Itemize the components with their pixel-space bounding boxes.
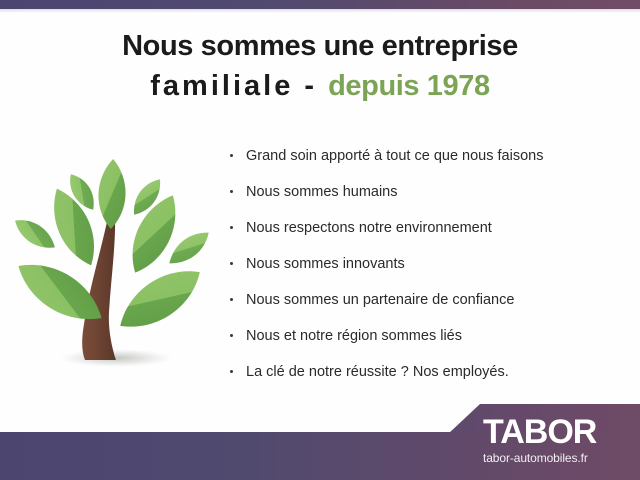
slide-title-line-2-static: familiale - xyxy=(150,70,328,102)
list-item-label: Nous respectons notre environnement xyxy=(246,220,492,236)
list-item: Nous sommes un partenaire de confiance xyxy=(228,290,628,326)
list-item: Nous sommes humains xyxy=(228,182,628,218)
tree-leaf-9 xyxy=(110,257,211,342)
list-item: La clé de notre réussite ? Nos employés. xyxy=(228,362,628,398)
top-accent-bar xyxy=(0,0,640,9)
top-accent-bar-shadow xyxy=(0,9,640,13)
list-item: Nous respectons notre environnement xyxy=(228,218,628,254)
slide-title: Nous sommes une entreprise familiale - d… xyxy=(0,26,640,106)
tree-leaf-6 xyxy=(12,213,60,255)
tree-illustration xyxy=(12,152,212,380)
brand-logo-tagline: tabor-automobiles.fr xyxy=(483,451,633,465)
list-item-label: Nous sommes un partenaire de confiance xyxy=(246,292,514,308)
bullet-dot-icon xyxy=(230,334,233,337)
benefits-list: Grand soin apporté à tout ce que nous fa… xyxy=(228,146,628,398)
slide-title-line-1: Nous sommes une entreprise xyxy=(122,30,518,62)
bullet-dot-icon xyxy=(230,262,233,265)
list-item-label: Nous sommes innovants xyxy=(246,256,405,272)
tree-leaf-4 xyxy=(43,182,106,272)
slide-title-line-2: familiale - depuis 1978 xyxy=(0,66,640,106)
bullet-dot-icon xyxy=(230,190,233,193)
list-item-label: La clé de notre réussite ? Nos employés. xyxy=(246,364,509,380)
bullet-dot-icon xyxy=(230,154,233,157)
bullet-dot-icon xyxy=(230,226,233,229)
list-item: Nous sommes innovants xyxy=(228,254,628,290)
brand-logo[interactable]: TABOR tabor-automobiles.fr xyxy=(483,415,633,473)
brand-logo-wordmark: TABOR xyxy=(483,415,633,449)
bullet-dot-icon xyxy=(230,370,233,373)
tree-leaf-1 xyxy=(97,159,126,230)
list-item-label: Nous et notre région sommes liés xyxy=(246,328,462,344)
slide-title-accent: depuis 1978 xyxy=(328,70,490,102)
list-item-label: Nous sommes humains xyxy=(246,184,398,200)
list-item-label: Grand soin apporté à tout ce que nous fa… xyxy=(246,148,543,164)
list-item: Grand soin apporté à tout ce que nous fa… xyxy=(228,146,628,182)
slide-canvas: Nous sommes une entreprise familiale - d… xyxy=(0,0,640,480)
bullet-dot-icon xyxy=(230,298,233,301)
tree-ground-shadow xyxy=(60,349,172,367)
list-item: Nous et notre région sommes liés xyxy=(228,326,628,362)
